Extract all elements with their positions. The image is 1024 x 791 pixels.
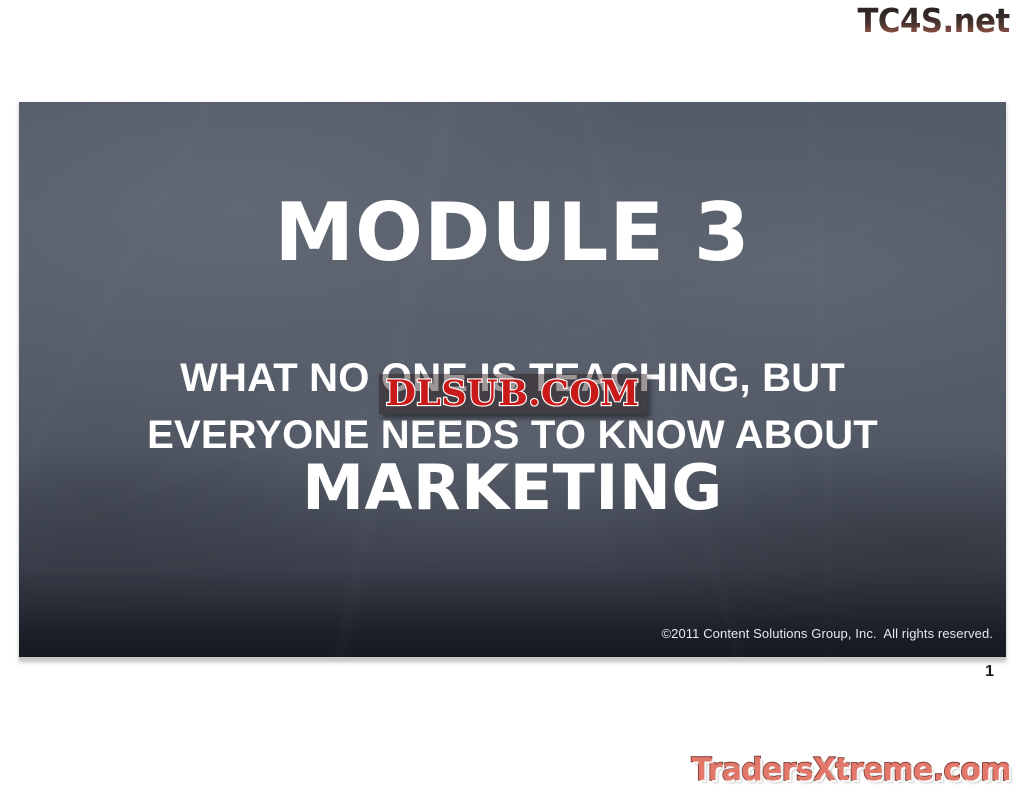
watermark-badge: DLSUB.COM	[378, 374, 646, 414]
slide-module-title: MODULE 3	[19, 193, 1006, 273]
slide-content: MODULE 3 WHAT NO ONE IS TEACHING, BUT EV…	[19, 102, 1006, 657]
watermark-text: DLSUB.COM	[385, 376, 639, 411]
slide-page-number: 1	[985, 663, 994, 681]
slide-copyright-notice: ©2011 Content Solutions Group, Inc. All …	[661, 626, 993, 641]
slide-topic-heading: MARKETING	[19, 457, 1006, 519]
site-logo-tc4s: TC4S.net	[858, 2, 1010, 40]
presentation-slide: MODULE 3 WHAT NO ONE IS TEACHING, BUT EV…	[19, 102, 1006, 660]
brand-logo-tradersxtreme: TradersXtreme.com	[691, 755, 1011, 786]
